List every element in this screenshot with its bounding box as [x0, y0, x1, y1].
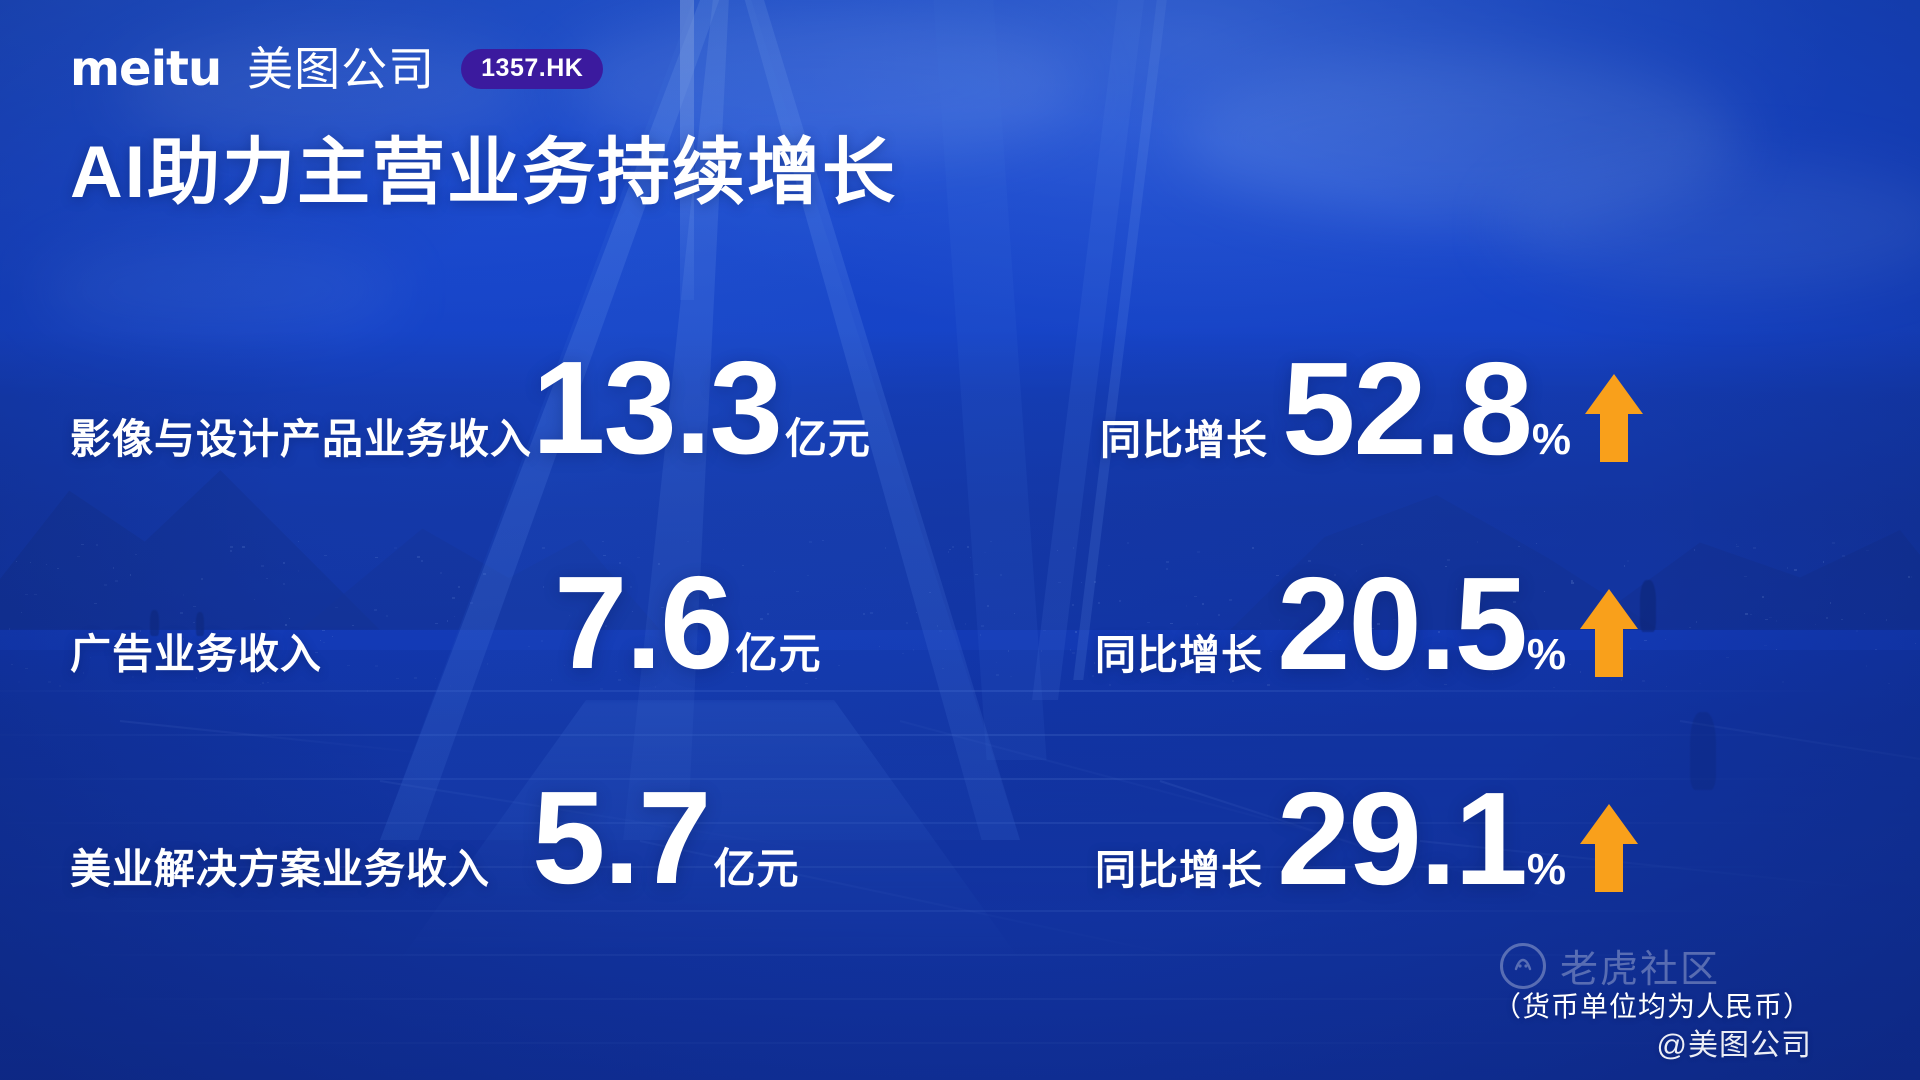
infographic-canvas: meitu 美图公司 1357.HK AI助力主营业务持续增长 影像与设计产品业… [0, 0, 1920, 1080]
tiger-circle-icon [1500, 943, 1546, 989]
percent-sign: % [1527, 845, 1566, 895]
attribution-handle: @美图公司 [1657, 1020, 1812, 1064]
page-title: AI助力主营业务持续增长 [70, 132, 897, 214]
metric-row: 广告业务收入 7.6 亿元 同比增长 20.5 % [0, 500, 1920, 715]
growth-label: 同比增长 [1095, 621, 1263, 681]
metric-revenue-group: 广告业务收入 7.6 亿元 [70, 570, 822, 681]
metrics-list: 影像与设计产品业务收入 13.3 亿元 同比增长 52.8 % 广告业务 [0, 285, 1920, 930]
metric-unit: 亿元 [714, 835, 800, 896]
stock-ticker-badge: 1357.HK [461, 49, 603, 89]
percent-sign: % [1527, 630, 1566, 680]
metric-label: 美业解决方案业务收入 [70, 835, 490, 895]
metric-growth-group: 同比增长 20.5 % [1095, 571, 1640, 681]
metric-growth-group: 同比增长 52.8 % [1100, 356, 1645, 466]
arrow-up-icon [1583, 372, 1645, 464]
arrow-up-icon [1578, 587, 1640, 679]
metric-label: 影像与设计产品业务收入 [70, 405, 532, 465]
growth-value: 20.5 [1277, 571, 1526, 677]
metric-row: 美业解决方案业务收入 5.7 亿元 同比增长 29.1 % [0, 715, 1920, 930]
metric-value: 7.6 [554, 570, 732, 676]
metric-revenue-group: 美业解决方案业务收入 5.7 亿元 [70, 785, 800, 896]
meitu-chinese-name: 美图公司 [247, 46, 435, 92]
meitu-wordmark: meitu [70, 45, 221, 93]
metric-row: 影像与设计产品业务收入 13.3 亿元 同比增长 52.8 % [0, 285, 1920, 500]
metric-unit: 亿元 [785, 405, 871, 466]
percent-sign: % [1532, 415, 1571, 465]
arrow-up-icon [1578, 802, 1640, 894]
metric-value: 13.3 [532, 355, 781, 461]
growth-label: 同比增长 [1100, 406, 1268, 466]
growth-value: 29.1 [1277, 786, 1526, 892]
growth-label: 同比增长 [1095, 836, 1263, 896]
brand-header: meitu 美图公司 1357.HK [70, 45, 603, 93]
metric-revenue-group: 影像与设计产品业务收入 13.3 亿元 [70, 355, 871, 466]
metric-growth-group: 同比增长 29.1 % [1095, 786, 1640, 896]
metric-value: 5.7 [532, 785, 710, 891]
growth-value: 52.8 [1282, 356, 1531, 462]
metric-label: 广告业务收入 [70, 620, 322, 680]
currency-footnote: （货币单位均为人民币） [1493, 985, 1812, 1025]
metric-unit: 亿元 [736, 620, 822, 681]
